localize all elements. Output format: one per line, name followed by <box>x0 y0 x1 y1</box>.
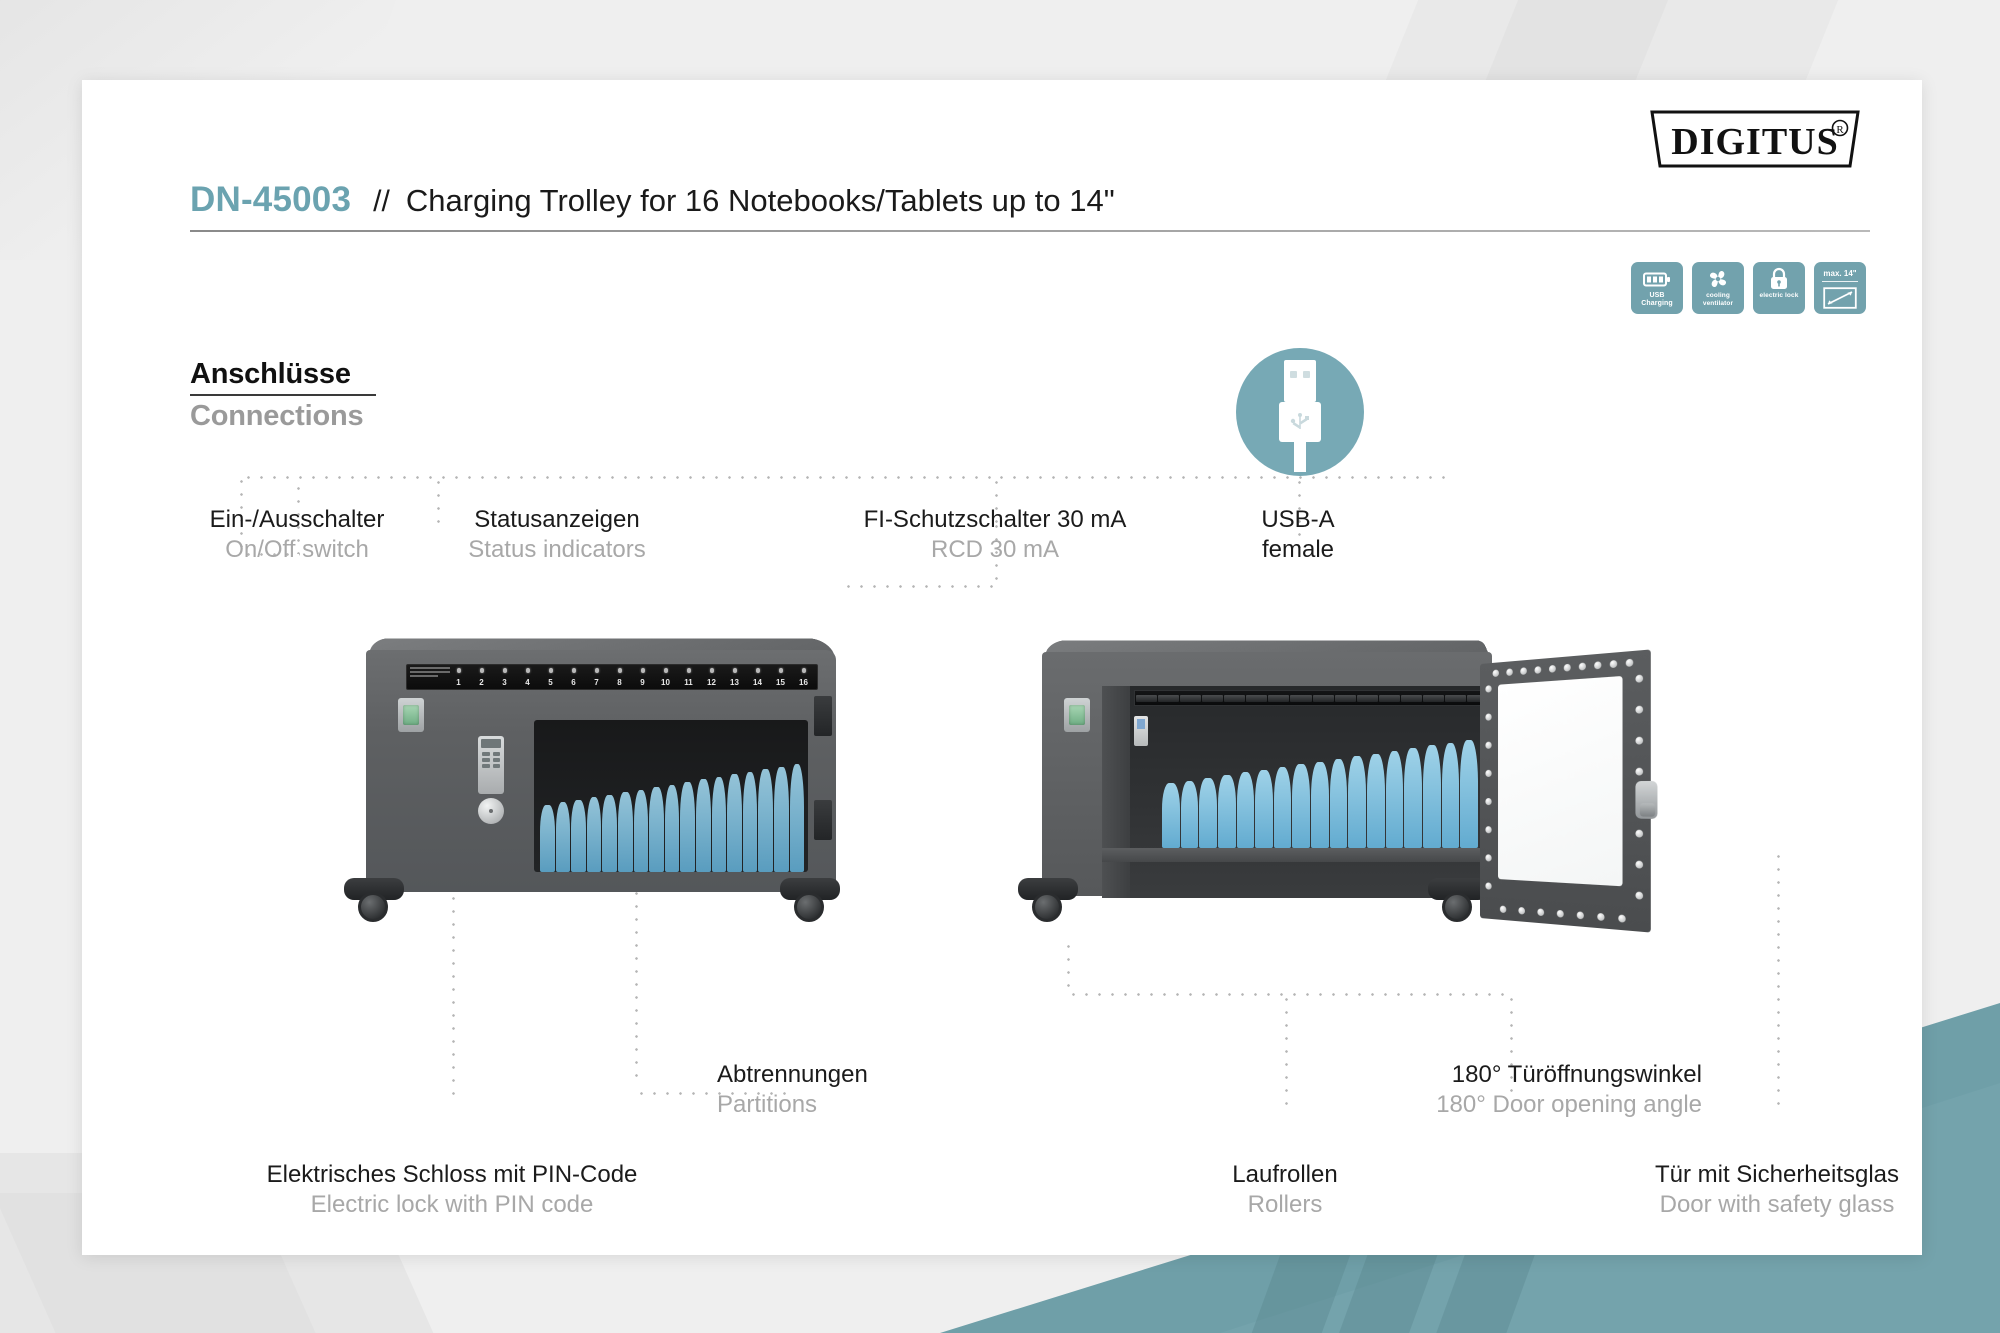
on-off-switch[interactable] <box>398 698 424 732</box>
bay-number: 12 <box>700 677 723 689</box>
partition <box>774 767 789 872</box>
digitus-logo: DIGITUS R <box>1644 108 1866 170</box>
door-bolt-bottom <box>1557 910 1564 918</box>
hinge-lower <box>814 800 832 840</box>
bay-number: 14 <box>746 677 769 689</box>
callout-partitions-de: Abtrennungen <box>717 1060 1017 1090</box>
partition-set-closed <box>540 764 804 872</box>
door-bolt-left <box>1485 826 1491 833</box>
partition <box>618 792 633 872</box>
door-bolt-right <box>1635 737 1643 745</box>
door-frame <box>1480 649 1651 932</box>
partition <box>727 774 742 872</box>
callout-electric-lock-en: Electric lock with PIN code <box>182 1190 722 1220</box>
safety-glass-panel <box>1498 676 1622 886</box>
door-bolt-top <box>1610 660 1617 668</box>
partition <box>556 802 571 872</box>
door-bolt-top <box>1520 667 1527 675</box>
door-bolt-top <box>1594 661 1601 669</box>
partition <box>1442 743 1460 848</box>
usb-socket <box>1268 695 1289 702</box>
door-bolt-top <box>1493 669 1499 677</box>
caster-front-right <box>780 878 840 922</box>
max-screen-divider <box>1822 281 1858 282</box>
callout-usb-a-en: female <box>1198 535 1398 565</box>
partition <box>743 772 758 872</box>
callout-electric-lock-de: Elektrisches Schloss mit PIN-Code <box>182 1160 722 1190</box>
cabinet-floor <box>1102 848 1496 862</box>
callout-rcd-en: RCD 30 mA <box>815 535 1175 565</box>
partition <box>696 779 711 872</box>
partition <box>587 797 602 872</box>
cooling-ventilator-label-line1: cooling <box>1704 292 1732 300</box>
keypad-buttons[interactable] <box>482 752 500 768</box>
screen-diagonal-icon <box>1823 285 1857 311</box>
page-title: Charging Trolley for 16 Notebooks/Tablet… <box>406 183 1115 219</box>
door-bolt-bottom <box>1500 906 1506 914</box>
door-bolt-right <box>1635 861 1643 869</box>
door-bolt-left <box>1485 685 1491 692</box>
partition <box>1386 751 1404 848</box>
partition <box>1199 778 1217 848</box>
caster-b-right <box>1428 878 1488 922</box>
product-photo-open-trolley <box>1028 628 1668 928</box>
usb-charging-icon: USB Charging <box>1631 262 1683 314</box>
usb-socket <box>1313 695 1334 702</box>
usb-socket <box>1202 695 1223 702</box>
door-bolt-left <box>1485 854 1491 861</box>
partition <box>1292 764 1310 848</box>
door-bolt-right <box>1635 768 1643 776</box>
partition <box>1460 740 1478 848</box>
leader-line-bottom-right-h <box>1067 993 1512 996</box>
door-bolt-left <box>1485 770 1491 777</box>
usb-socket <box>1445 695 1466 702</box>
partition <box>1274 767 1292 848</box>
door-bolt-left <box>1485 742 1491 749</box>
callout-partitions: Abtrennungen Partitions <box>717 1060 1017 1120</box>
door-handle-latch[interactable] <box>1635 781 1657 819</box>
partition <box>1367 754 1385 849</box>
door-bolt-bottom <box>1597 913 1604 921</box>
cooling-ventilator-label-line2: ventilator <box>1701 300 1735 308</box>
partition <box>1162 783 1180 848</box>
door-bolt-bottom <box>1537 908 1544 916</box>
bay-number: 10 <box>654 677 677 689</box>
open-door[interactable] <box>1480 649 1651 932</box>
callout-status-indicators-de: Statusanzeigen <box>437 505 677 535</box>
bay-number: 9 <box>631 677 654 689</box>
partition <box>712 777 727 872</box>
cabinet-body: 12345678910111213141516 <box>366 650 836 892</box>
usb-charging-label-line1: USB <box>1647 292 1666 300</box>
title-divider <box>190 230 1870 232</box>
partition <box>602 795 617 872</box>
door-bolt-top <box>1534 666 1541 674</box>
leader-line-safety-glass-v <box>1777 850 1780 1110</box>
partition <box>790 764 805 872</box>
partition <box>1181 781 1199 849</box>
fan-icon <box>1706 266 1730 292</box>
door-bolt-top <box>1579 662 1586 670</box>
title-separator: // <box>373 185 390 219</box>
pin-code-keypad[interactable] <box>478 736 504 794</box>
callout-usb-a-de: USB-A <box>1198 505 1398 535</box>
callout-rcd-de: FI-Schutzschalter 30 mA <box>815 505 1175 535</box>
section-heading-rule <box>190 394 376 396</box>
electric-lock-label: electric lock <box>1758 292 1801 300</box>
usb-socket <box>1335 695 1356 702</box>
leader-line-rcd-h <box>842 585 1002 588</box>
door-bolt-right <box>1635 706 1643 714</box>
svg-text:R: R <box>1836 124 1844 136</box>
usb-socket <box>1379 695 1400 702</box>
usb-socket <box>1224 695 1245 702</box>
callout-rollers-en: Rollers <box>1125 1190 1445 1220</box>
section-heading: Anschlüsse Connections <box>190 358 376 433</box>
door-bolt-bottom <box>1518 907 1525 915</box>
content-card: DIGITUS R DN-45003 // Charging Trolley f… <box>82 80 1922 1255</box>
cabinet-side-panel <box>1102 686 1130 898</box>
callout-safety-glass: Tür mit Sicherheitsglas Door with safety… <box>1537 1160 2000 1220</box>
callout-on-off-switch-en: On/Off switch <box>177 535 417 565</box>
lock-knob[interactable] <box>478 798 504 824</box>
on-off-switch-b[interactable] <box>1064 698 1090 732</box>
partition <box>571 800 586 872</box>
max-screen-size-icon: max. 14" <box>1814 262 1866 314</box>
partition <box>1218 775 1236 848</box>
bay-number: 16 <box>792 677 815 689</box>
callout-status-indicators: Statusanzeigen Status indicators <box>437 505 677 565</box>
callout-on-off-switch-de: Ein-/Ausschalter <box>177 505 417 535</box>
keypad-display <box>481 739 501 748</box>
usb-socket <box>1180 695 1201 702</box>
max-screen-size-label: max. 14" <box>1823 269 1856 279</box>
usb-socket <box>1158 695 1179 702</box>
partition <box>1404 748 1422 848</box>
cooling-ventilator-icon: cooling ventilator <box>1692 262 1744 314</box>
partition <box>649 787 664 872</box>
callout-door-angle-en: 180° Door opening angle <box>1102 1090 1702 1120</box>
callout-rollers: Laufrollen Rollers <box>1125 1160 1445 1220</box>
partition <box>1330 759 1348 848</box>
product-sku: DN-45003 <box>190 180 351 220</box>
door-bolt-left <box>1485 882 1491 889</box>
door-bolt-bottom <box>1577 911 1584 919</box>
callout-status-indicators-en: Status indicators <box>437 535 677 565</box>
title-row: DN-45003 // Charging Trolley for 16 Note… <box>190 180 1866 232</box>
leader-line-on-off-top <box>242 476 442 479</box>
door-bolt-left <box>1485 798 1491 805</box>
section-heading-de: Anschlüsse <box>190 358 376 391</box>
door-bolt-top <box>1626 659 1634 667</box>
door-bolt-top <box>1549 665 1556 673</box>
usb-socket <box>1401 695 1422 702</box>
door-bolt-top <box>1564 664 1571 672</box>
electric-lock-icon: electric lock <box>1753 262 1805 314</box>
feature-icon-row: USB Charging cooling ventilator <box>1631 262 1866 314</box>
svg-text:DIGITUS: DIGITUS <box>1671 121 1839 163</box>
usb-a-connector-badge <box>1236 348 1364 476</box>
bay-number: 1 <box>447 677 470 689</box>
usb-socket <box>1246 695 1267 702</box>
bay-number: 6 <box>562 677 585 689</box>
callout-on-off-switch: Ein-/Ausschalter On/Off switch <box>177 505 417 565</box>
bay-number: 4 <box>516 677 539 689</box>
door-bolt-right <box>1635 830 1643 838</box>
padlock-icon <box>1768 266 1790 292</box>
partition <box>680 782 695 872</box>
product-photo-closed-trolley: 12345678910111213141516 <box>344 628 874 928</box>
door-bolt-left <box>1485 713 1491 720</box>
partition <box>665 785 680 872</box>
bay-number: 5 <box>539 677 562 689</box>
section-heading-en: Connections <box>190 400 376 433</box>
cabinet-b-body <box>1042 652 1492 896</box>
partition <box>1237 772 1255 848</box>
bay-number: 8 <box>608 677 631 689</box>
usb-socket <box>1136 695 1157 702</box>
door-bolt-right <box>1635 891 1643 899</box>
partition <box>1348 756 1366 848</box>
partition <box>1255 770 1273 848</box>
leader-line-usb-h <box>995 476 1447 479</box>
usb-socket <box>1357 695 1378 702</box>
battery-icon <box>1643 266 1671 292</box>
bay-number: 7 <box>585 677 608 689</box>
callout-safety-glass-de: Tür mit Sicherheitsglas <box>1537 1160 2000 1190</box>
partition <box>540 805 555 872</box>
bay-number: 2 <box>470 677 493 689</box>
status-indicator-strip: 12345678910111213141516 <box>406 664 818 690</box>
usb-charging-label-line2: Charging <box>1639 300 1675 308</box>
leader-line-rollers-v <box>1067 940 1070 995</box>
callout-partitions-en: Partitions <box>717 1090 1017 1120</box>
usb-socket <box>1290 695 1311 702</box>
strip-label-text <box>410 667 450 687</box>
partition-set-open <box>1162 740 1478 848</box>
digitus-logo-mark: DIGITUS R <box>1644 108 1866 170</box>
bay-number: 13 <box>723 677 746 689</box>
door-bolt-right <box>1635 675 1643 683</box>
door-window <box>534 720 808 872</box>
bay-number: 11 <box>677 677 700 689</box>
hinge-upper <box>814 696 832 736</box>
rcd-breaker[interactable] <box>1134 716 1148 746</box>
callout-rcd: FI-Schutzschalter 30 mA RCD 30 mA <box>815 505 1175 565</box>
leader-line-status-h <box>437 476 997 479</box>
callout-rollers-de: Laufrollen <box>1125 1160 1445 1190</box>
bay-number: 3 <box>493 677 516 689</box>
usb-a-connector-icon <box>1272 354 1328 472</box>
callout-usb-a: USB-A female <box>1198 505 1398 565</box>
bay-number-row: 12345678910111213141516 <box>407 677 817 689</box>
door-bolt-top <box>1506 668 1512 676</box>
callout-electric-lock: Elektrisches Schloss mit PIN-Code Electr… <box>182 1160 722 1220</box>
callout-door-angle-de: 180° Türöffnungswinkel <box>1102 1060 1702 1090</box>
usb-socket <box>1423 695 1444 702</box>
bay-number: 15 <box>769 677 792 689</box>
door-bolt-bottom <box>1618 914 1625 922</box>
partition <box>758 769 773 872</box>
usb-socket-strip <box>1134 690 1490 706</box>
caster-b-left <box>1018 878 1078 922</box>
callout-door-angle: 180° Türöffnungswinkel 180° Door opening… <box>1102 1060 1702 1120</box>
partition <box>1423 745 1441 848</box>
callout-safety-glass-en: Door with safety glass <box>1537 1190 2000 1220</box>
partition <box>1311 762 1329 848</box>
partition <box>634 790 649 872</box>
caster-front-left <box>344 878 404 922</box>
